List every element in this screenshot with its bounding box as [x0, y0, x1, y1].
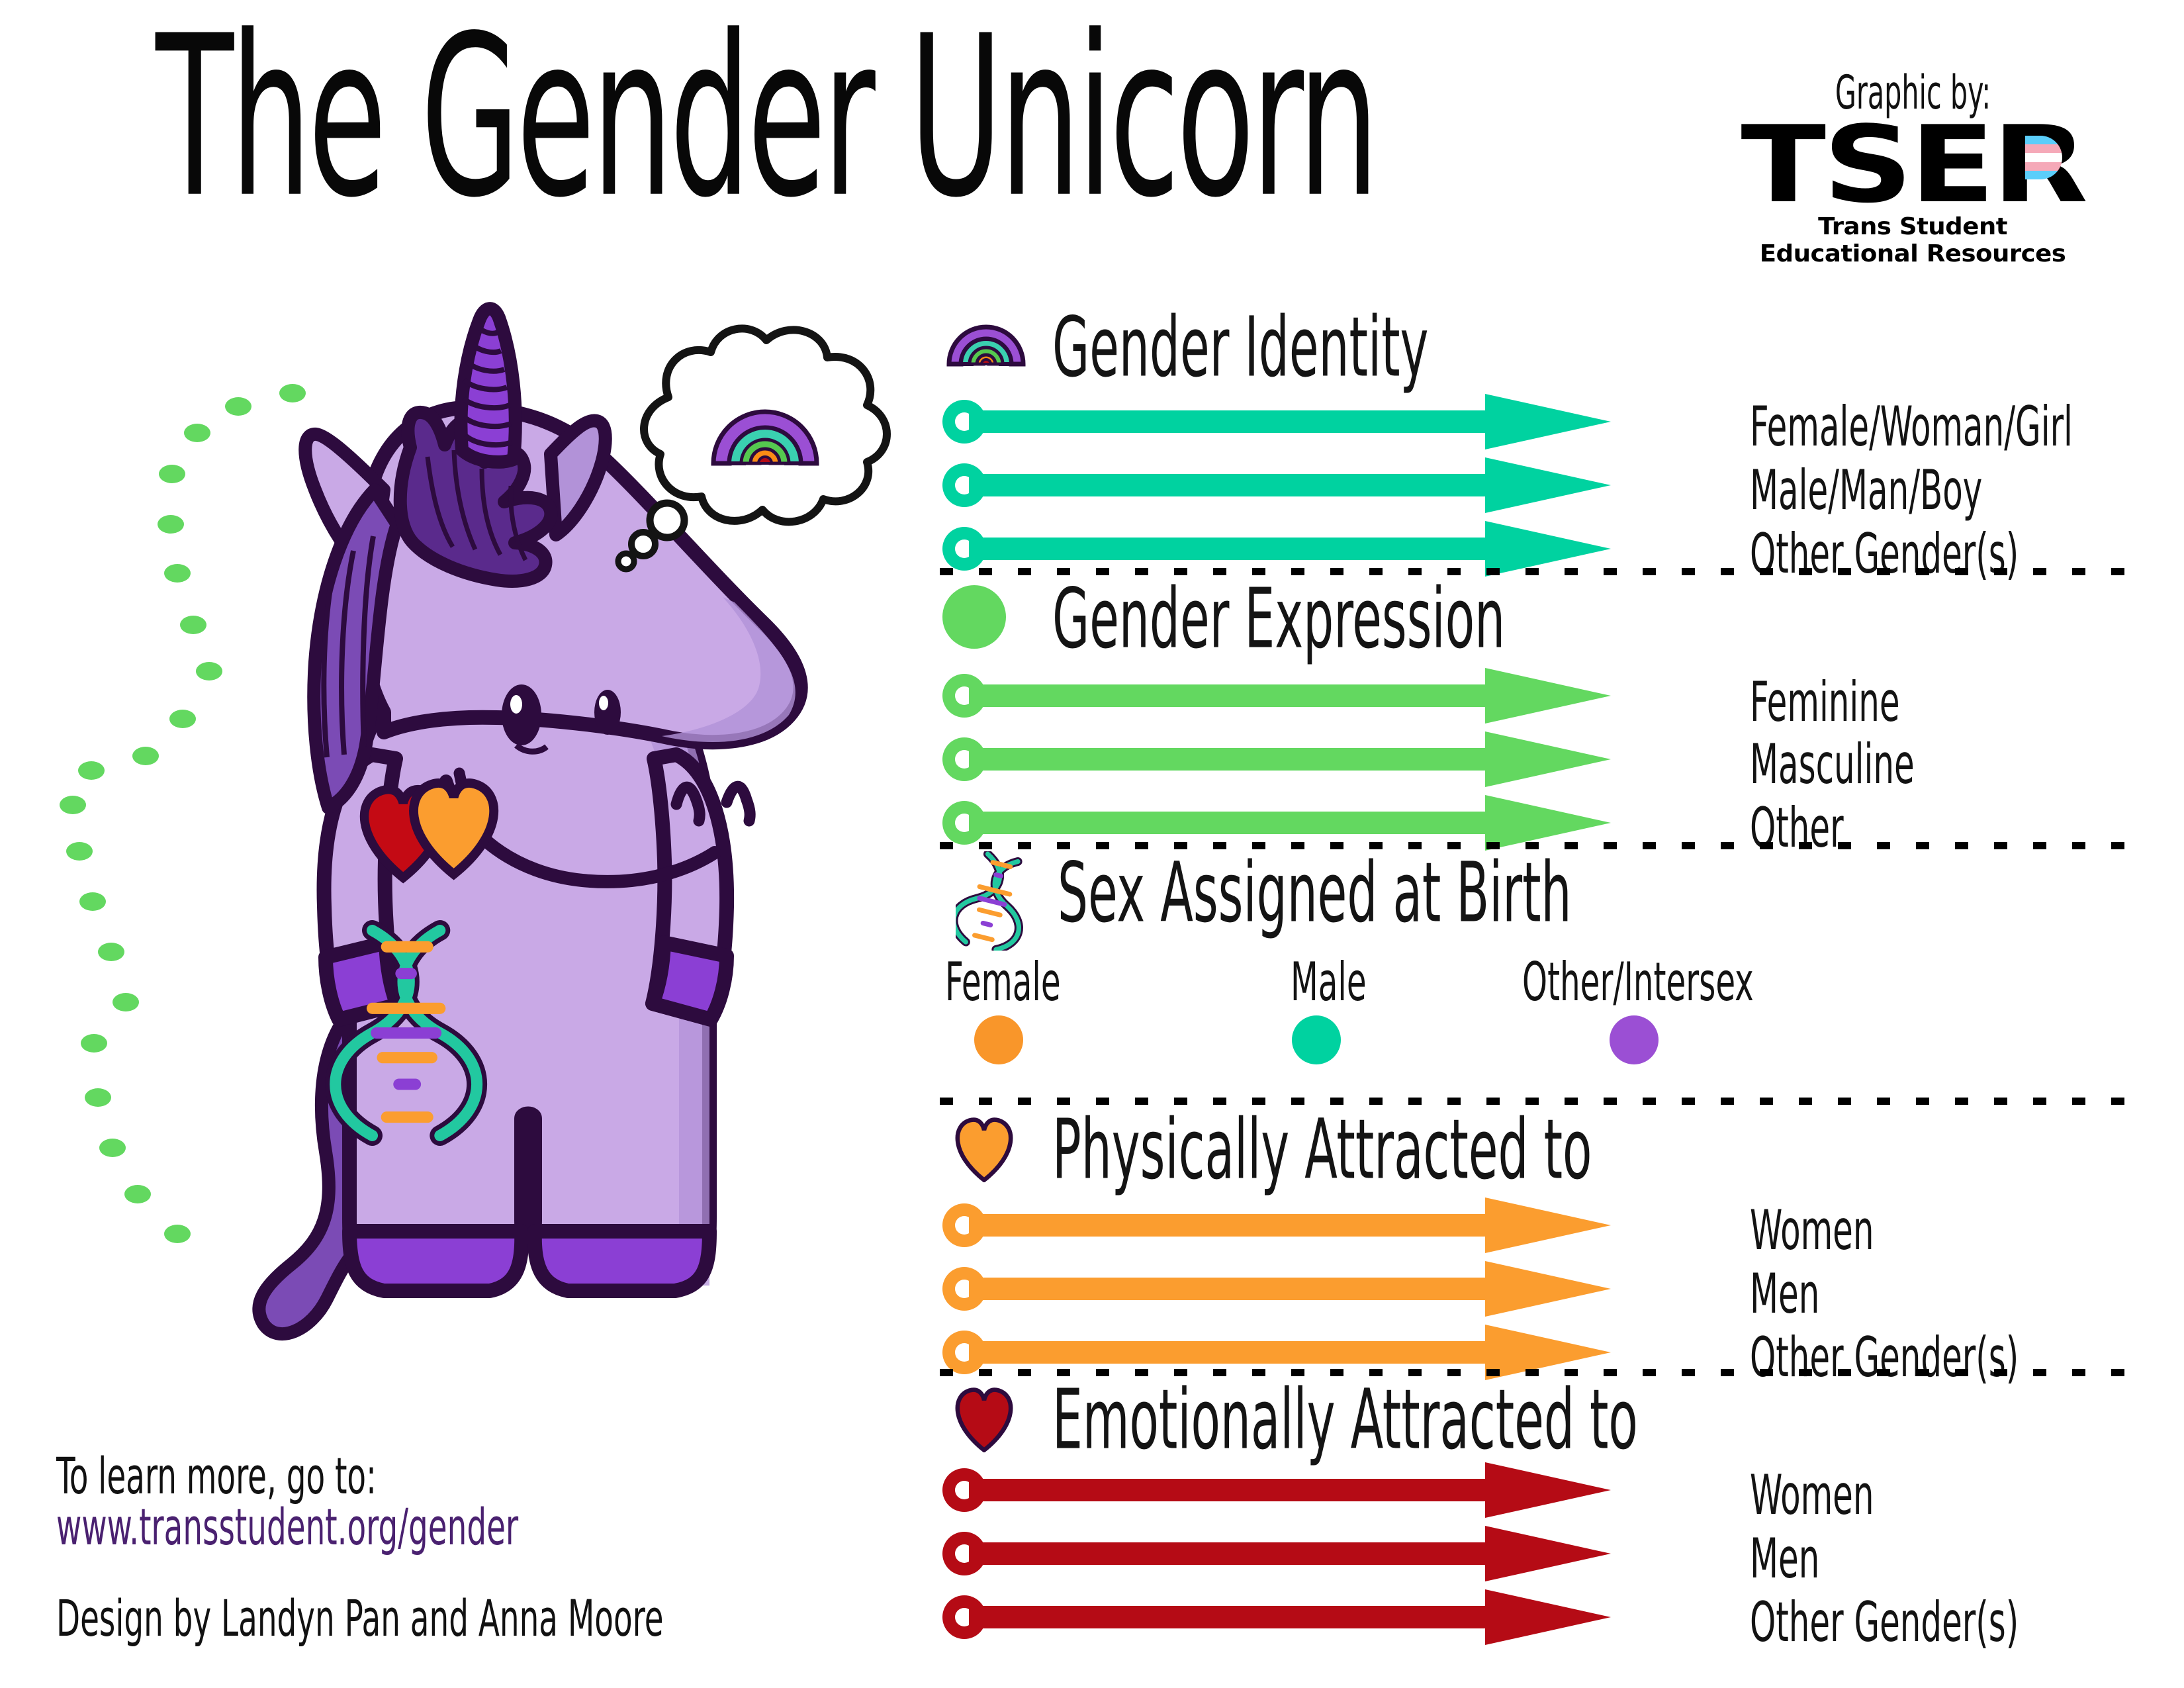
arrow-head	[1485, 668, 1611, 724]
section-title-gender-identity: Gender Identity	[1052, 299, 1428, 396]
arrow-head	[1485, 731, 1611, 787]
arrow-bar	[969, 1278, 1492, 1300]
spectrum-label: Women	[1750, 1463, 1874, 1527]
arrow-bar	[969, 410, 1492, 433]
arrow-bar	[969, 1542, 1492, 1565]
section-title-emotionally-attracted-to: Emotionally Attracted to	[1052, 1372, 1638, 1468]
arrow-head	[1485, 1261, 1611, 1317]
sab-dot-other-intersex	[1610, 1015, 1659, 1064]
green-circle-icon	[942, 585, 1006, 649]
spectrum-arrow	[942, 1267, 1611, 1311]
arrow-bar	[969, 538, 1492, 560]
learn-more-label: To learn more, go to:	[56, 1446, 377, 1505]
design-credit-label: Design by Landyn Pan and Anna Moore	[56, 1589, 664, 1648]
spectrum-arrow	[942, 1532, 1611, 1575]
arrow-bar	[969, 474, 1492, 496]
sab-dot-female	[974, 1015, 1023, 1064]
arrow-head	[1485, 1462, 1611, 1518]
sab-label-male: Male	[1291, 952, 1367, 1013]
green-dot	[113, 993, 139, 1011]
green-dot	[99, 1139, 126, 1157]
spectrum-arrow	[942, 737, 1611, 781]
arrow-bar	[969, 812, 1492, 834]
spectrum-arrow	[942, 463, 1611, 507]
section-title-physically-attracted-to: Physically Attracted to	[1052, 1102, 1592, 1198]
arrow-head	[1485, 1589, 1611, 1645]
spectrum-arrow	[942, 1468, 1611, 1512]
section-title-gender-expression: Gender Expression	[1052, 571, 1505, 667]
sab-label-other-intersex: Other/Intersex	[1522, 952, 1754, 1013]
thought-bubble	[596, 311, 907, 576]
spectrum-label: Men	[1750, 1526, 1819, 1591]
spectrum-label: Other Gender(s)	[1750, 1325, 2019, 1389]
spectrum-label: Other Gender(s)	[1750, 1590, 2019, 1654]
spectrum-label: Feminine	[1750, 670, 1900, 734]
tser-wordmark: TSER	[1741, 120, 2085, 209]
green-dot	[98, 943, 124, 961]
green-dot	[124, 1185, 151, 1203]
spectrum-label: Women	[1750, 1198, 1874, 1262]
spectrum-arrow	[942, 400, 1611, 444]
arrow-bar	[969, 1479, 1492, 1501]
arrow-head	[1485, 1526, 1611, 1581]
green-dot	[132, 747, 159, 765]
spectrum-label: Female/Woman/Girl	[1750, 395, 2073, 459]
arrow-bar	[969, 684, 1492, 707]
green-dot	[78, 761, 105, 780]
green-dot	[60, 796, 86, 814]
green-dot	[79, 892, 106, 911]
section-title-sex-assigned-at-birth: Sex Assigned at Birth	[1058, 845, 1572, 941]
tser-logo-block: Graphic by: TSER Trans Student Education…	[1741, 66, 2085, 267]
spectrum-arrow	[942, 674, 1611, 718]
arrow-bar	[969, 1606, 1492, 1628]
arrow-bar	[969, 1214, 1492, 1237]
green-dot	[85, 1088, 111, 1107]
green-dot	[66, 842, 93, 861]
red-heart-icon	[948, 1386, 1021, 1452]
gender-unicorn-infographic: The Gender Unicorn Graphic by: TSER Tran…	[0, 0, 2184, 1688]
transstudent-url-link[interactable]: www.transstudent.org/gender	[56, 1497, 518, 1556]
rainbow-icon	[946, 310, 1026, 367]
spectrum-label: Men	[1750, 1262, 1819, 1326]
green-dot	[81, 1034, 107, 1053]
spectrum-label: Male/Man/Boy	[1750, 458, 1982, 522]
orange-heart-icon	[948, 1116, 1021, 1182]
sab-label-female: Female	[945, 952, 1061, 1013]
arrow-bar	[969, 1341, 1492, 1364]
arrow-head	[1485, 457, 1611, 513]
spectrum-label: Masculine	[1750, 732, 1915, 796]
tser-subtitle: Trans Student Educational Resources	[1735, 213, 2090, 267]
green-dot	[159, 465, 185, 483]
arrow-bar	[969, 748, 1492, 771]
dna-helix-icon	[956, 851, 1028, 951]
arrow-head	[1485, 394, 1611, 449]
spectrum-arrow	[942, 1595, 1611, 1639]
arrow-head	[1485, 1197, 1611, 1253]
sab-dot-male	[1292, 1015, 1341, 1064]
spectrum-arrow	[942, 1203, 1611, 1247]
green-dot	[158, 515, 184, 534]
